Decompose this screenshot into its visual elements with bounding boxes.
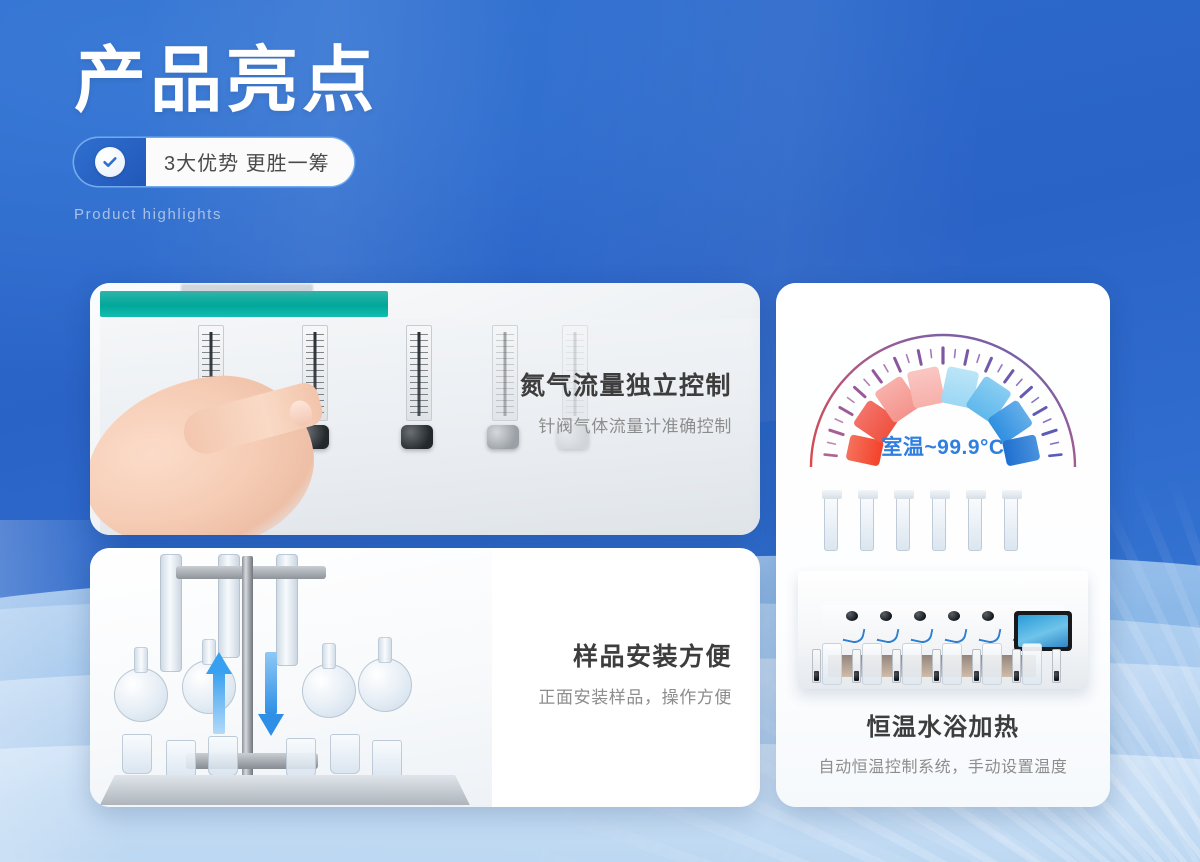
hose-3 <box>911 625 934 645</box>
badge-icon-area <box>74 138 146 186</box>
bottom-flowmeter-7[interactable] <box>1052 649 1061 683</box>
sample-jar-6 <box>372 740 402 780</box>
vial-1 <box>824 495 838 551</box>
bottom-flowmeter-3[interactable] <box>892 649 901 683</box>
gauge-temperature-label: 室温~99.9°C <box>881 431 1004 461</box>
bottom-flowmeter-6[interactable] <box>1012 649 1021 683</box>
sample-installation-caption: 样品安装方便 正面安装样品，操作方便 <box>538 642 732 708</box>
vial-2 <box>860 495 874 551</box>
bottom-flowmeter-4[interactable] <box>932 649 941 683</box>
hose-1 <box>843 625 866 645</box>
instrument-label-band <box>100 291 388 317</box>
flowtube-1 <box>822 643 842 685</box>
sample-jar-5 <box>330 734 360 774</box>
highlight-cards: 氮气流量独立控制 针阀气体流量计准确控制 <box>90 283 1110 807</box>
valve-knob-3[interactable] <box>401 425 433 449</box>
bottom-flowmeter-5[interactable] <box>972 649 981 683</box>
bottom-flowmeter-2[interactable] <box>852 649 861 683</box>
valve-4[interactable] <box>948 611 960 621</box>
sample-rig-photo <box>90 548 492 807</box>
flowtube-4 <box>942 643 962 685</box>
advantages-badge: 3大优势 更胜一筹 <box>74 138 354 186</box>
rig-vertical-post[interactable] <box>242 556 253 781</box>
card-title: 样品安装方便 <box>538 642 732 673</box>
arrow-up-icon <box>206 652 232 736</box>
nitrogen-flow-caption: 氮气流量独立控制 针阀气体流量计准确控制 <box>520 371 732 437</box>
card-subtitle: 正面安装样品，操作方便 <box>538 683 732 708</box>
flowtube-5 <box>982 643 1002 685</box>
badge-label: 3大优势 更胜一筹 <box>146 138 354 186</box>
card-title: 氮气流量独立控制 <box>520 371 732 402</box>
check-circle-icon <box>95 147 125 177</box>
flowmeter-4 <box>492 325 518 421</box>
valve-3[interactable] <box>914 611 926 621</box>
valve-5[interactable] <box>982 611 994 621</box>
valve-1[interactable] <box>846 611 858 621</box>
round-flask-4 <box>358 658 412 712</box>
flowtube-3 <box>902 643 922 685</box>
hose-2 <box>877 625 900 645</box>
card-nitrogen-flow[interactable]: 氮气流量独立控制 针阀气体流量计准确控制 <box>90 283 760 535</box>
round-flask-3 <box>302 664 356 718</box>
card-water-bath-heating[interactable]: 室温~99.9°C <box>776 283 1110 807</box>
sample-jar-4 <box>286 738 316 778</box>
instrument-tray <box>100 775 470 805</box>
hose-4 <box>945 625 968 645</box>
bottom-flowmeter-1[interactable] <box>812 649 821 683</box>
vial-3 <box>896 495 910 551</box>
card-subtitle: 自动恒温控制系统，手动设置温度 <box>776 753 1110 777</box>
page-subtitle-english: Product highlights <box>74 206 694 223</box>
flowtube-6 <box>1022 643 1042 685</box>
card-subtitle: 针阀气体流量计准确控制 <box>520 412 732 437</box>
vial-6 <box>1004 495 1018 551</box>
card-title: 恒温水浴加热 <box>776 713 1110 743</box>
arrow-down-icon <box>258 652 284 736</box>
water-bath-caption: 恒温水浴加热 自动恒温控制系统，手动设置温度 <box>776 713 1110 777</box>
water-bath-instrument <box>784 493 1102 698</box>
page-title: 产品亮点 <box>74 44 694 120</box>
hose-5 <box>979 625 1002 645</box>
card-sample-installation[interactable]: 样品安装方便 正面安装样品，操作方便 <box>90 548 760 807</box>
vial-5 <box>968 495 982 551</box>
flowtube-2 <box>862 643 882 685</box>
sample-jar-1 <box>122 734 152 774</box>
page-header: 产品亮点 3大优势 更胜一筹 Product highlights <box>74 44 694 223</box>
sample-jar-2 <box>166 740 196 780</box>
valve-2[interactable] <box>880 611 892 621</box>
vial-4 <box>932 495 946 551</box>
water-bath-photo: 室温~99.9°C <box>776 283 1110 807</box>
flowmeter-3 <box>406 325 432 421</box>
round-flask-1 <box>114 668 168 722</box>
instrument-body <box>798 571 1088 689</box>
sample-jar-3 <box>208 736 238 776</box>
valve-knob-4[interactable] <box>487 425 519 449</box>
